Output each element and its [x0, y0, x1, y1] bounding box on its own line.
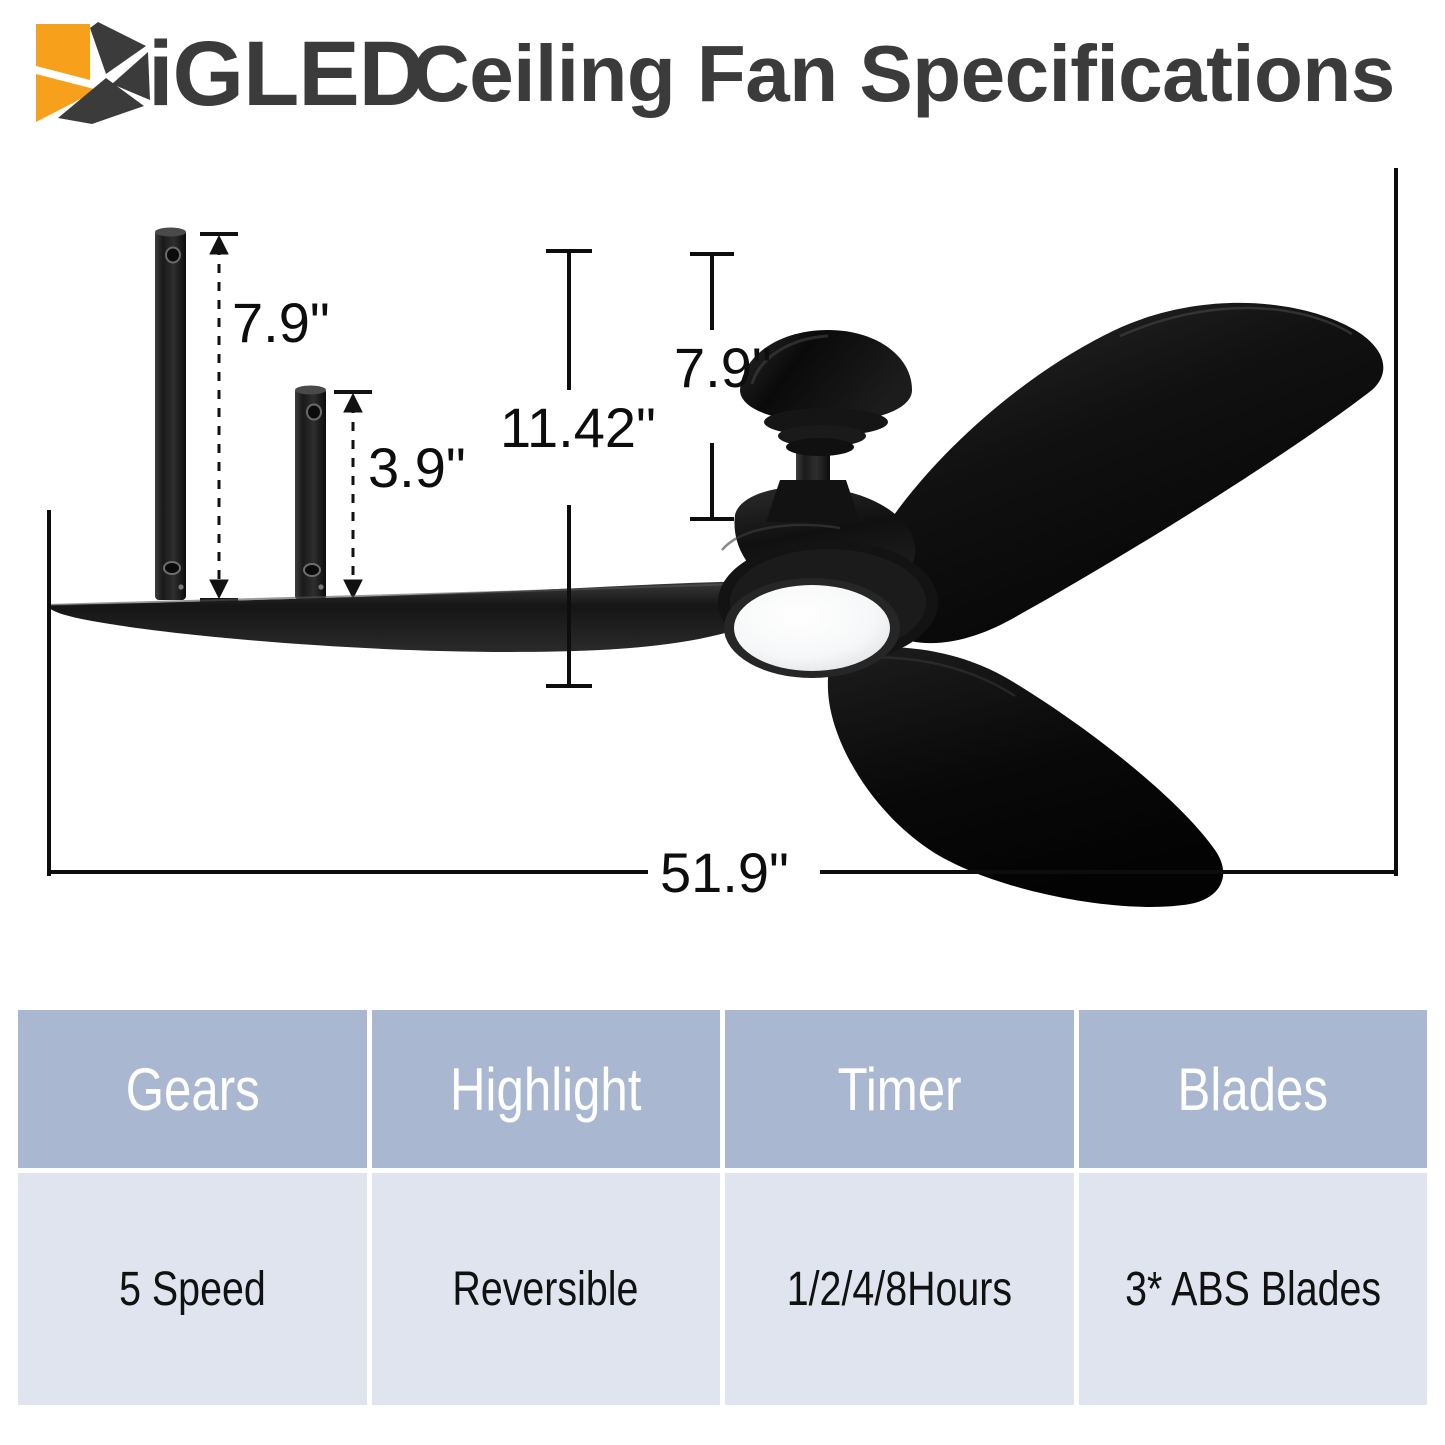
aperture-shutter-icon: [28, 18, 153, 130]
dimension-label-total-height: 11.42": [500, 395, 656, 460]
table-value-row: 5 Speed Reversible 1/2/4/8Hours 3* ABS B…: [18, 1173, 1427, 1405]
dimension-label-downrod-short: 3.9": [368, 435, 466, 500]
header-label-highlight: Highlight: [450, 1055, 641, 1124]
table-value-cell-gears: 5 Speed: [18, 1173, 372, 1405]
table-header-cell-blades: Blades: [1079, 1010, 1428, 1168]
table-header-cell-gears: Gears: [18, 1010, 372, 1168]
dimension-downrod-short: [334, 392, 372, 600]
product-spec-sheet: iGLED Ceiling Fan Specifications: [0, 0, 1445, 1445]
dimension-blade-span: [49, 168, 1396, 876]
brand-wordmark: iGLED: [148, 20, 424, 128]
table-value-cell-timer: 1/2/4/8Hours: [725, 1173, 1079, 1405]
fan-blade-lower-right: [828, 647, 1223, 907]
dimension-label-canopy-drop: 7.9": [674, 335, 772, 400]
downrod-short: [295, 386, 326, 601]
specifications-table: Gears Highlight Timer Blades 5 Speed Rev…: [18, 1010, 1427, 1405]
header-label-gears: Gears: [125, 1055, 259, 1124]
value-label-timer: 1/2/4/8Hours: [787, 1262, 1012, 1317]
table-header-row: Gears Highlight Timer Blades: [18, 1010, 1427, 1168]
downrod-long: [155, 228, 186, 601]
dimension-downrod-long: [200, 234, 238, 600]
value-label-gears: 5 Speed: [119, 1262, 266, 1317]
table-value-cell-blades: 3* ABS Blades: [1079, 1173, 1428, 1405]
led-light-disc: [724, 578, 900, 678]
value-label-blades: 3* ABS Blades: [1125, 1262, 1381, 1317]
value-label-highlight: Reversible: [453, 1262, 639, 1317]
header-label-blades: Blades: [1178, 1055, 1328, 1124]
ceiling-fan-dimension-diagram: 7.9" 3.9" 11.42" 7.9" 51.9": [0, 150, 1445, 990]
dimension-label-blade-span: 51.9": [660, 840, 789, 905]
header-label-timer: Timer: [837, 1055, 961, 1124]
page-title: Ceiling Fan Specifications: [412, 20, 1395, 128]
table-header-cell-highlight: Highlight: [372, 1010, 726, 1168]
dimension-label-downrod-long: 7.9": [232, 290, 330, 355]
table-header-cell-timer: Timer: [725, 1010, 1079, 1168]
page-header: iGLED Ceiling Fan Specifications: [0, 0, 1445, 150]
table-value-cell-highlight: Reversible: [372, 1173, 726, 1405]
